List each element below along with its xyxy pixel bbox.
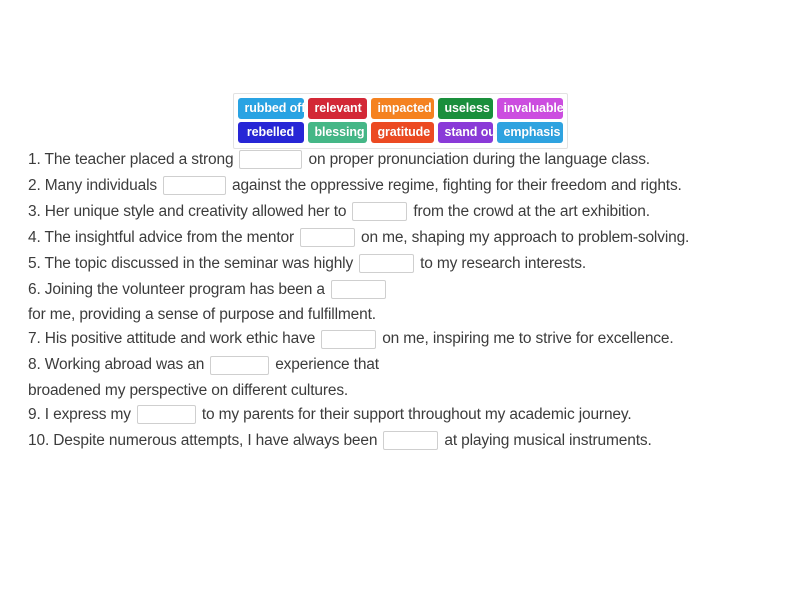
word-bank-row: rebelledblessinggratitudestand outemphas… bbox=[238, 122, 563, 143]
sentence-text: to my parents for their support througho… bbox=[202, 407, 632, 423]
answer-blank[interactable] bbox=[359, 254, 414, 273]
word-tile[interactable]: useless bbox=[438, 98, 493, 119]
sentence-text: 2. Many individuals bbox=[28, 178, 157, 194]
sentence-text: experience that bbox=[275, 357, 379, 373]
sentence-text: 4. The insightful advice from the mentor bbox=[28, 230, 294, 246]
sentence-text: on me, shaping my approach to problem-so… bbox=[361, 230, 689, 246]
sentence-text: 7. His positive attitude and work ethic … bbox=[28, 331, 315, 347]
answer-blank[interactable] bbox=[321, 330, 376, 349]
sentence-6: 6. Joining the volunteer program has bee… bbox=[28, 280, 780, 299]
word-bank-row: rubbed offrelevantimpacteduselessinvalua… bbox=[238, 98, 563, 119]
sentence-text: 6. Joining the volunteer program has bee… bbox=[28, 282, 325, 298]
sentence-8: 8. Working abroad was an experience that bbox=[28, 356, 780, 375]
word-tile[interactable]: blessing bbox=[308, 122, 367, 143]
sentence-text: 5. The topic discussed in the seminar wa… bbox=[28, 256, 353, 272]
answer-blank[interactable] bbox=[300, 228, 355, 247]
sentence-10: 10. Despite numerous attempts, I have al… bbox=[28, 431, 780, 450]
sentence-text: on proper pronunciation during the langu… bbox=[308, 152, 650, 168]
sentence-7: 7. His positive attitude and work ethic … bbox=[28, 330, 780, 349]
sentence-text: against the oppressive regime, fighting … bbox=[232, 178, 682, 194]
sentence-text: 3. Her unique style and creativity allow… bbox=[28, 204, 346, 220]
answer-blank[interactable] bbox=[352, 202, 407, 221]
word-tile[interactable]: relevant bbox=[308, 98, 367, 119]
sentence-text: to my research interests. bbox=[420, 256, 586, 272]
sentence-text: broadened my perspective on different cu… bbox=[28, 383, 348, 399]
answer-blank[interactable] bbox=[210, 356, 269, 375]
sentence-text: at playing musical instruments. bbox=[444, 433, 651, 449]
sentence-3: 3. Her unique style and creativity allow… bbox=[28, 202, 780, 221]
word-tile[interactable]: invaluable bbox=[497, 98, 563, 119]
word-tile[interactable]: gratitude bbox=[371, 122, 434, 143]
word-tile[interactable]: rebelled bbox=[238, 122, 304, 143]
word-tile[interactable]: rubbed off bbox=[238, 98, 304, 119]
sentence-9: 9. I express my to my parents for their … bbox=[28, 405, 780, 424]
sentence-text: from the crowd at the art exhibition. bbox=[413, 204, 650, 220]
word-tile[interactable]: impacted bbox=[371, 98, 434, 119]
word-tile[interactable]: emphasis bbox=[497, 122, 563, 143]
sentence-text: 1. The teacher placed a strong bbox=[28, 152, 233, 168]
word-tile[interactable]: stand out bbox=[438, 122, 493, 143]
answer-blank[interactable] bbox=[137, 405, 196, 424]
answer-blank[interactable] bbox=[163, 176, 226, 195]
sentence-5: 5. The topic discussed in the seminar wa… bbox=[28, 254, 780, 273]
sentence-text: 8. Working abroad was an bbox=[28, 357, 204, 373]
sentence-4: 4. The insightful advice from the mentor… bbox=[28, 228, 780, 247]
sentence-list: 1. The teacher placed a strong on proper… bbox=[28, 150, 780, 450]
sentence-8-continued: broadened my perspective on different cu… bbox=[28, 383, 780, 399]
answer-blank[interactable] bbox=[239, 150, 302, 169]
sentence-text: 10. Despite numerous attempts, I have al… bbox=[28, 433, 377, 449]
word-bank: rubbed offrelevantimpacteduselessinvalua… bbox=[233, 93, 568, 149]
sentence-2: 2. Many individuals against the oppressi… bbox=[28, 176, 780, 195]
sentence-text: on me, inspiring me to strive for excell… bbox=[382, 331, 673, 347]
answer-blank[interactable] bbox=[383, 431, 438, 450]
sentence-text: 9. I express my bbox=[28, 407, 131, 423]
sentence-6-continued: for me, providing a sense of purpose and… bbox=[28, 307, 780, 323]
word-bank-container: rubbed offrelevantimpacteduselessinvalua… bbox=[0, 93, 800, 149]
sentence-1: 1. The teacher placed a strong on proper… bbox=[28, 150, 780, 169]
answer-blank[interactable] bbox=[331, 280, 386, 299]
sentence-text: for me, providing a sense of purpose and… bbox=[28, 307, 376, 323]
